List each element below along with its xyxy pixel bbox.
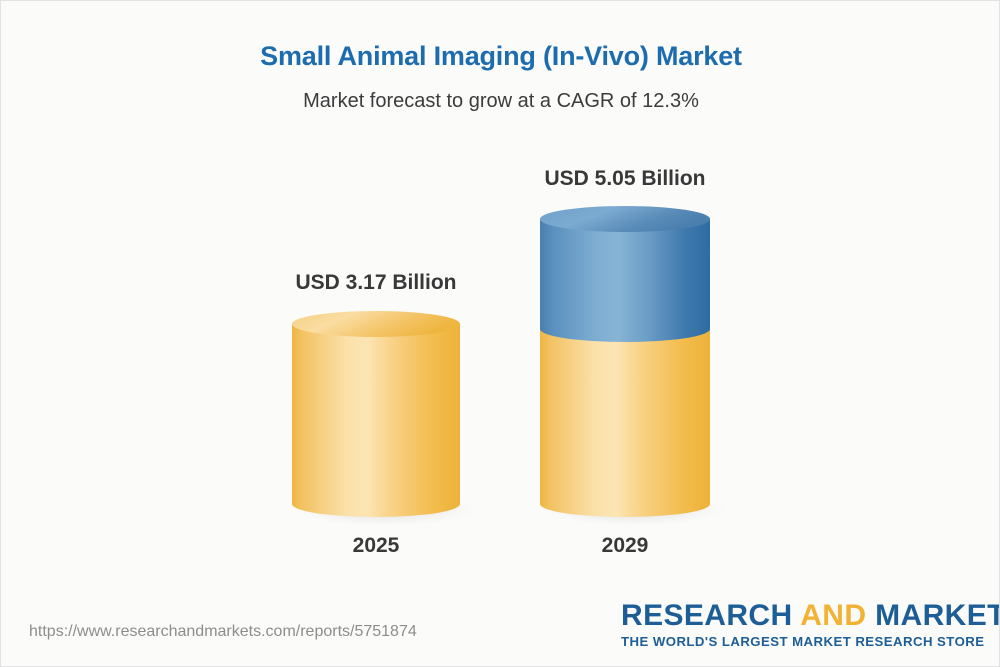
category-label-2025: 2025: [306, 534, 446, 558]
brand-logo: RESEARCH AND MARKETS THE WORLD'S LARGEST…: [621, 601, 981, 649]
bar-2029-segment-base: [540, 329, 710, 517]
chart-infographic: Small Animal Imaging (In-Vivo) Market Ma…: [0, 0, 1000, 667]
bar-2029-top-cap: [540, 206, 710, 232]
bar-2029: [540, 206, 726, 526]
bar-2029-segment-growth: [540, 219, 710, 342]
category-label-2029: 2029: [555, 534, 695, 558]
cylinder-bar-chart-svg: [1, 1, 1000, 601]
report-url-link[interactable]: https://www.researchandmarkets.com/repor…: [29, 623, 417, 641]
bar-2025-body: [292, 324, 460, 517]
brand-word-and: AND: [800, 599, 866, 632]
bar-2025-top-cap: [292, 311, 460, 337]
chart-plot-area: USD 3.17 Billion USD 5.05 Billion 2025 2…: [1, 1, 1000, 601]
value-label-2025: USD 3.17 Billion: [276, 271, 476, 295]
brand-tagline: THE WORLD'S LARGEST MARKET RESEARCH STOR…: [621, 634, 981, 649]
bar-2025: [292, 311, 477, 526]
brand-word-markets: MARKETS: [866, 599, 1000, 632]
value-label-2029: USD 5.05 Billion: [525, 167, 725, 191]
brand-word-research: RESEARCH: [621, 599, 800, 632]
brand-wordmark: RESEARCH AND MARKETS: [621, 601, 981, 632]
